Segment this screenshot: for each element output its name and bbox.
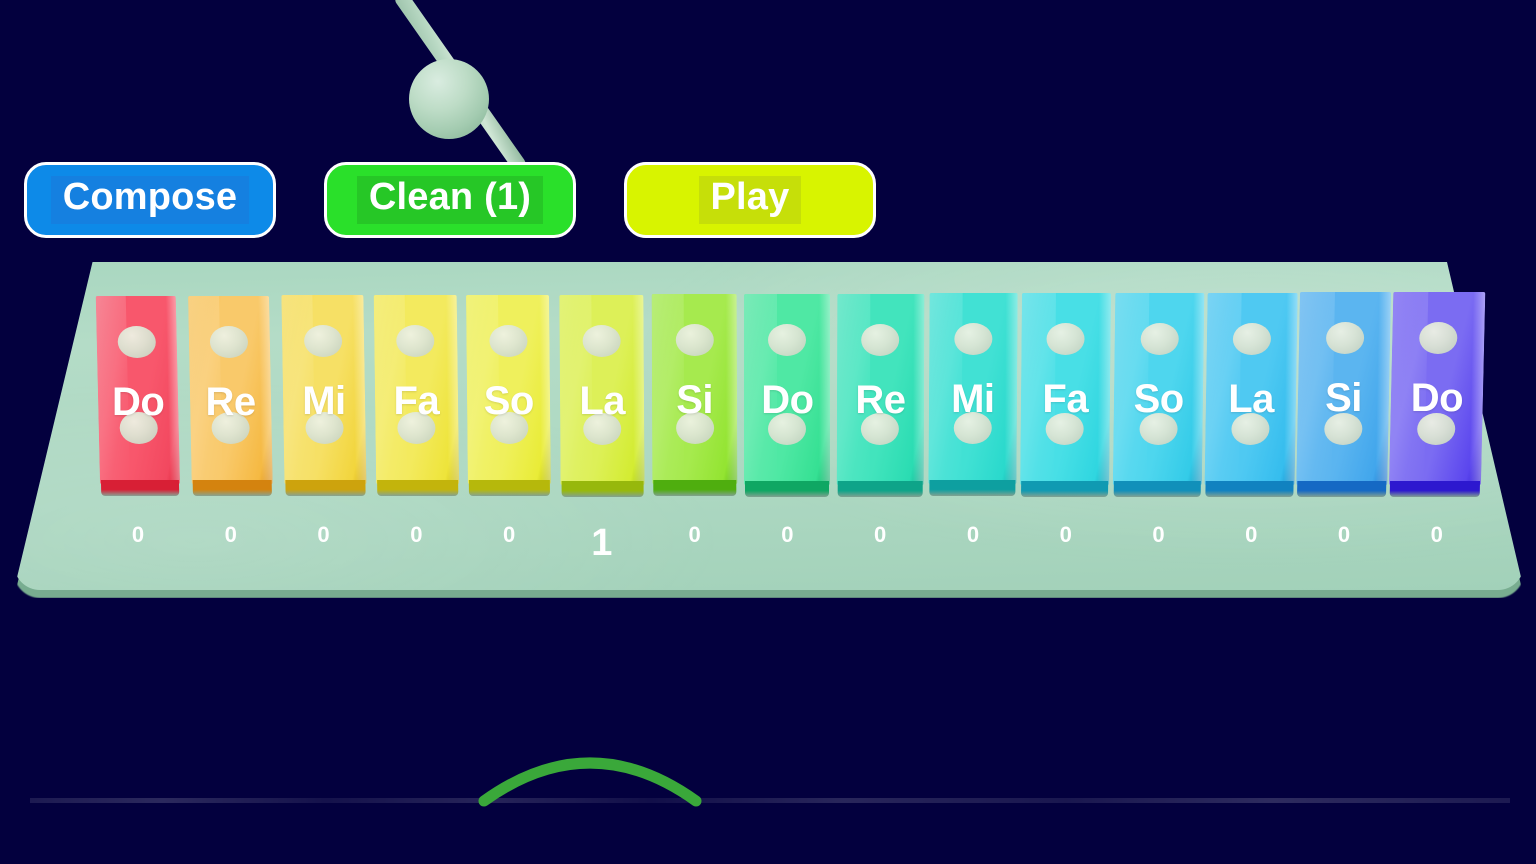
key-counter-5: 1 (572, 522, 632, 565)
key-counters: 000001000000000 (0, 0, 1536, 864)
key-counter-11: 0 (1128, 522, 1188, 548)
key-counter-4: 0 (479, 522, 539, 548)
key-counter-9: 0 (943, 522, 1003, 548)
key-counter-10: 0 (1036, 522, 1096, 548)
key-counter-13: 0 (1314, 522, 1374, 548)
key-counter-12: 0 (1221, 522, 1281, 548)
clean-button[interactable]: Clean (1) (324, 162, 576, 238)
play-button-label: Play (699, 176, 802, 224)
compose-button-label: Compose (51, 176, 250, 224)
key-counter-8: 0 (850, 522, 910, 548)
compose-button[interactable]: Compose (24, 162, 276, 238)
key-counter-7: 0 (757, 522, 817, 548)
clean-button-label: Clean (1) (357, 176, 543, 224)
key-counter-2: 0 (294, 522, 354, 548)
app-stage: DoReMiFaSoLaSiDoReMiFaSoLaSiDo 000001000… (0, 0, 1536, 864)
play-button[interactable]: Play (624, 162, 876, 238)
key-counter-3: 0 (386, 522, 446, 548)
key-counter-6: 0 (665, 522, 725, 548)
key-counter-0: 0 (108, 522, 168, 548)
key-counter-1: 0 (201, 522, 261, 548)
key-counter-14: 0 (1407, 522, 1467, 548)
